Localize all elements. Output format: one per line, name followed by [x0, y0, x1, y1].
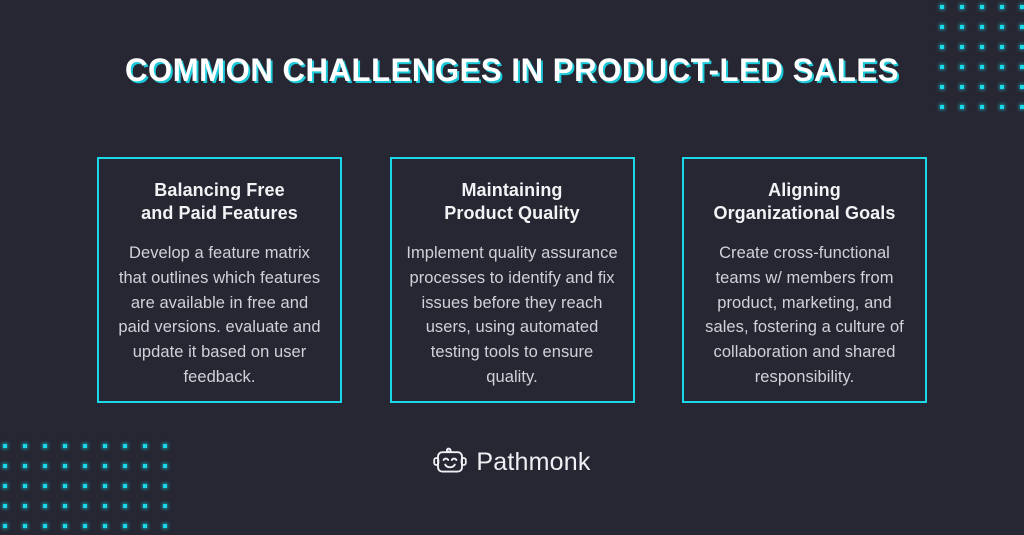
- decorative-dot: [980, 105, 984, 109]
- challenge-card-1: Balancing Free and Paid Features Develop…: [97, 157, 342, 403]
- decorative-dot: [1000, 5, 1004, 9]
- decorative-dot: [1000, 25, 1004, 29]
- challenge-card-1-title: Balancing Free and Paid Features: [141, 179, 298, 225]
- decorative-dot: [960, 25, 964, 29]
- decorative-dot: [103, 524, 107, 528]
- decorative-dot: [163, 484, 167, 488]
- decorative-dot: [103, 484, 107, 488]
- decorative-dot: [23, 524, 27, 528]
- challenge-card-3-title-line2: Organizational Goals: [713, 203, 895, 223]
- brand-name: Pathmonk: [476, 448, 590, 477]
- decorative-dot: [43, 524, 47, 528]
- decorative-dot: [23, 484, 27, 488]
- challenge-cards-row: Balancing Free and Paid Features Develop…: [97, 157, 927, 403]
- decorative-dot: [940, 45, 944, 49]
- decorative-dot: [143, 504, 147, 508]
- decorative-dot: [163, 504, 167, 508]
- decorative-dot: [3, 524, 7, 528]
- decorative-dot: [63, 524, 67, 528]
- challenge-card-3-title: Aligning Organizational Goals: [713, 179, 895, 225]
- decorative-dot: [1020, 85, 1024, 89]
- challenge-card-2-title: Maintaining Product Quality: [444, 179, 580, 225]
- decorative-dot: [1020, 5, 1024, 9]
- decorative-dot: [3, 504, 7, 508]
- decorative-dot: [1020, 105, 1024, 109]
- decorative-dot: [63, 484, 67, 488]
- decorative-dot: [43, 504, 47, 508]
- decorative-dot: [940, 25, 944, 29]
- decorative-dot: [83, 484, 87, 488]
- decorative-dot: [940, 5, 944, 9]
- decorative-dot: [123, 484, 127, 488]
- decorative-dot: [1000, 45, 1004, 49]
- decorative-dot: [143, 484, 147, 488]
- decorative-dot: [1000, 105, 1004, 109]
- decorative-dot: [960, 45, 964, 49]
- decorative-dot: [980, 25, 984, 29]
- decorative-dot: [83, 524, 87, 528]
- decorative-dot: [1020, 45, 1024, 49]
- decorative-dot: [163, 524, 167, 528]
- challenge-card-1-title-line2: and Paid Features: [141, 203, 298, 223]
- decorative-dot: [980, 45, 984, 49]
- decorative-dot: [960, 105, 964, 109]
- decorative-dot: [940, 105, 944, 109]
- challenge-card-3-title-line1: Aligning: [768, 180, 841, 200]
- decorative-dot: [83, 504, 87, 508]
- decorative-dot: [980, 5, 984, 9]
- decorative-dot: [103, 504, 107, 508]
- challenge-card-2: Maintaining Product Quality Implement qu…: [390, 157, 635, 403]
- decorative-dot: [123, 524, 127, 528]
- challenge-card-3-body: Create cross-functional teams w/ members…: [698, 241, 911, 390]
- page-title: COMMON CHALLENGES IN PRODUCT-LED SALES: [15, 52, 1008, 89]
- brand-lockup: Pathmonk: [0, 444, 1024, 481]
- decorative-dot: [1020, 25, 1024, 29]
- decorative-dot: [23, 504, 27, 508]
- decorative-dot: [1020, 65, 1024, 69]
- decorative-dot: [123, 504, 127, 508]
- challenge-card-3: Aligning Organizational Goals Create cro…: [682, 157, 927, 403]
- decorative-dot: [43, 484, 47, 488]
- challenge-card-2-body: Implement quality assurance processes to…: [406, 241, 619, 390]
- decorative-dot: [143, 524, 147, 528]
- challenge-card-1-title-line1: Balancing Free: [154, 180, 284, 200]
- decorative-dot: [63, 504, 67, 508]
- robot-head-icon: [433, 444, 467, 481]
- challenge-card-2-title-line2: Product Quality: [444, 203, 580, 223]
- challenge-card-1-body: Develop a feature matrix that outlines w…: [113, 241, 326, 390]
- challenge-card-2-title-line1: Maintaining: [461, 180, 562, 200]
- decorative-dot: [3, 484, 7, 488]
- decorative-dot: [960, 5, 964, 9]
